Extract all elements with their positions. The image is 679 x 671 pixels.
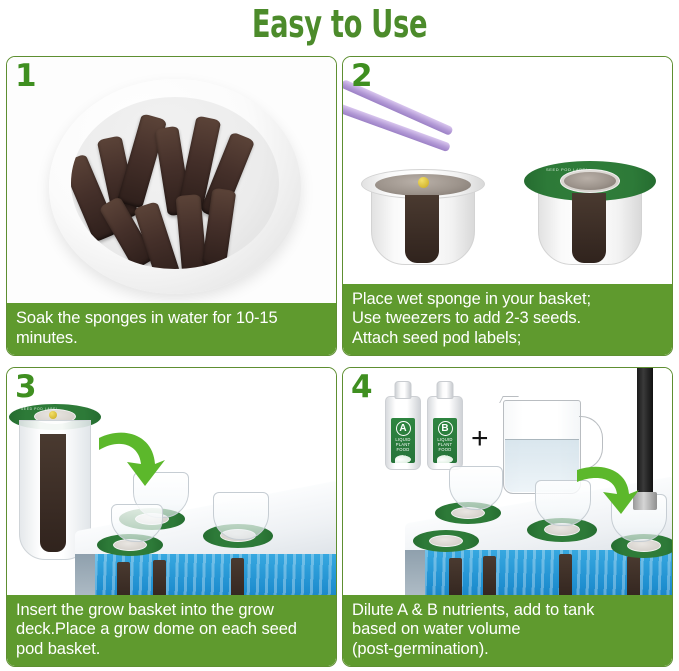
pour-arrow-icon <box>575 464 641 518</box>
caption-line: pod basket. <box>16 640 336 660</box>
bottle-label-a: A LIQUID PLANT FOOD CONCENTRATED NUTRIEN… <box>391 418 415 463</box>
caption-line: Use tweezers to add 2-3 seeds. <box>352 309 672 329</box>
infographic-page: Easy to Use 1 <box>0 0 679 671</box>
sponge-surface <box>564 172 616 190</box>
caption-line: Dilute A & B nutrients, add to tank <box>352 601 672 621</box>
step-number-3: 3 <box>15 370 37 404</box>
caption-line: Soak the sponges in water for 10-15 <box>16 309 336 329</box>
step-number-2: 2 <box>351 59 373 93</box>
grow-dome <box>213 492 269 540</box>
nutrient-bottle-a: A LIQUID PLANT FOOD CONCENTRATED NUTRIEN… <box>385 396 421 470</box>
step-number-1: 1 <box>15 59 37 93</box>
caption-line: minutes. <box>16 329 336 349</box>
caption-line: Attach seed pod labels; <box>352 329 672 349</box>
caption-line: (post-germination). <box>352 640 672 660</box>
caption-line: based on water volume <box>352 620 672 640</box>
caption-line: Insert the grow basket into the grow <box>16 601 336 621</box>
caption-line: deck.Place a grow dome on each seed <box>16 620 336 640</box>
bottle-badge: B <box>438 421 453 436</box>
sponge-column <box>405 195 439 263</box>
step-number-4: 4 <box>351 370 373 404</box>
step-caption-3: Insert the grow basket into the grow dec… <box>7 595 336 667</box>
steps-grid: 1 Soak the sponges in water for 10-15 mi… <box>6 56 673 667</box>
bottle-label-b: B LIQUID PLANT FOOD CONCENTRATED NUTRIEN… <box>433 418 457 463</box>
step-caption-1: Soak the sponges in water for 10-15 minu… <box>7 303 336 355</box>
bottle-cap <box>395 381 412 399</box>
step-panel-2: SEED POD LABEL 2 Place wet sponge in you… <box>342 56 673 356</box>
pod-center-hole <box>429 535 463 547</box>
bowl-interior <box>71 97 279 269</box>
seed <box>418 177 429 188</box>
nutrient-bottle-b: B LIQUID PLANT FOOD CONCENTRATED NUTRIEN… <box>427 396 463 470</box>
insert-arrow-icon <box>95 428 167 490</box>
bottle-cap <box>437 381 454 399</box>
sponge-column <box>572 193 606 263</box>
seed <box>49 411 57 419</box>
leaf-icon <box>395 455 411 463</box>
caption-line: Place wet sponge in your basket; <box>352 290 672 310</box>
step-caption-2: Place wet sponge in your basket; Use twe… <box>343 284 672 356</box>
plus-symbol: + <box>471 424 489 454</box>
bottle-badge: A <box>396 421 411 436</box>
bottle-product-name: LIQUID PLANT FOOD <box>433 437 457 452</box>
leaf-icon <box>437 455 453 463</box>
step-caption-4: Dilute A & B nutrients, add to tank base… <box>343 595 672 667</box>
step-panel-3: SEED POD LABEL <box>6 367 337 667</box>
sponge-column <box>40 434 66 552</box>
bottle-product-name: LIQUID PLANT FOOD <box>391 437 415 452</box>
step-panel-4: A LIQUID PLANT FOOD CONCENTRATED NUTRIEN… <box>342 367 673 667</box>
step-panel-1: 1 Soak the sponges in water for 10-15 mi… <box>6 56 337 356</box>
page-title: Easy to Use <box>95 2 584 46</box>
